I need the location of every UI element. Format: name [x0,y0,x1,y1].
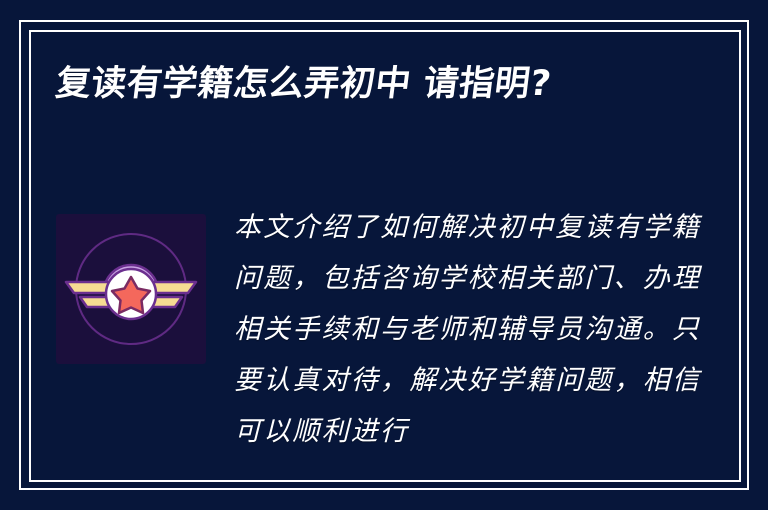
poster-canvas: 复读有学籍怎么弄初中 请指明? [0,0,768,510]
page-title: 复读有学籍怎么弄初中 请指明? [54,64,719,104]
content-row: 本文介绍了如何解决初中复读有学籍问题，包括咨询学校相关部门、办理相关手续和与老师… [56,200,716,470]
winged-star-badge-icon [56,214,206,364]
body-paragraph: 本文介绍了如何解决初中复读有学籍问题，包括咨询学校相关部门、办理相关手续和与老师… [234,200,716,457]
